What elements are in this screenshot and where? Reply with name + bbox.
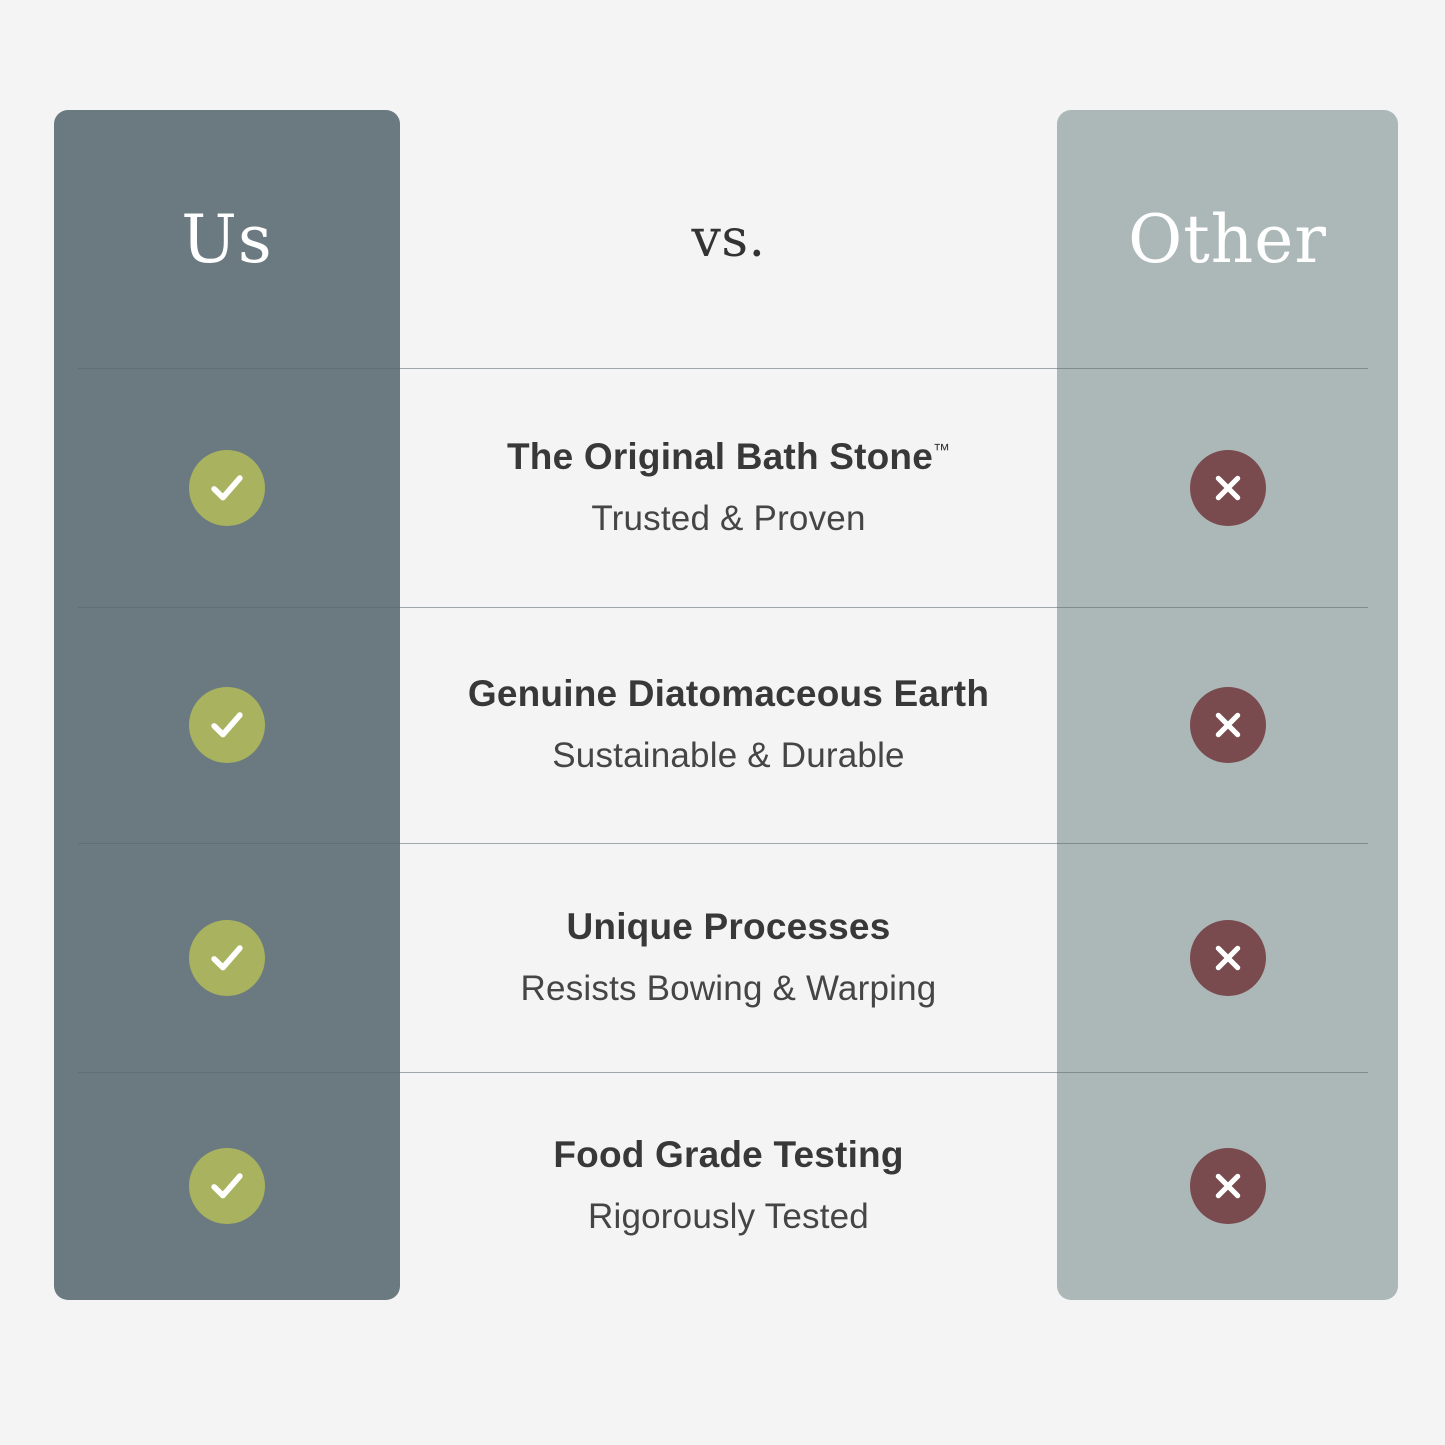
other-cell: [1057, 368, 1398, 607]
feature-cell: The Original Bath Stone™ Trusted & Prove…: [400, 368, 1057, 607]
check-icon: [189, 450, 265, 526]
feature-subtitle: Rigorously Tested: [588, 1198, 869, 1237]
table-row: The Original Bath Stone™ Trusted & Prove…: [0, 368, 1445, 607]
feature-subtitle: Resists Bowing & Warping: [521, 970, 937, 1009]
trademark-icon: ™: [933, 441, 950, 460]
comparison-table: Us vs. Other The Original Bath Stone™ Tr…: [0, 0, 1445, 1445]
column-header-us: Us: [54, 110, 400, 368]
feature-cell: Food Grade Testing Rigorously Tested: [400, 1072, 1057, 1300]
feature-title-text: Genuine Diatomaceous Earth: [468, 673, 989, 714]
column-header-other: Other: [1057, 110, 1398, 368]
us-cell: [54, 607, 400, 843]
table-row: Genuine Diatomaceous Earth Sustainable &…: [0, 607, 1445, 843]
feature-title-text: The Original Bath Stone: [507, 436, 933, 477]
column-header-vs: vs.: [400, 110, 1057, 368]
feature-title-text: Unique Processes: [566, 906, 890, 947]
us-cell: [54, 843, 400, 1072]
other-cell: [1057, 1072, 1398, 1300]
feature-title: Unique Processes: [566, 907, 890, 948]
feature-title: The Original Bath Stone™: [507, 437, 950, 478]
other-cell: [1057, 607, 1398, 843]
cross-icon: [1190, 1148, 1266, 1224]
other-cell: [1057, 843, 1398, 1072]
feature-subtitle: Trusted & Proven: [591, 500, 865, 539]
us-cell: [54, 368, 400, 607]
feature-subtitle: Sustainable & Durable: [552, 737, 904, 776]
feature-cell: Genuine Diatomaceous Earth Sustainable &…: [400, 607, 1057, 843]
table-row: Unique Processes Resists Bowing & Warpin…: [0, 843, 1445, 1072]
us-cell: [54, 1072, 400, 1300]
cross-icon: [1190, 450, 1266, 526]
check-icon: [189, 687, 265, 763]
cross-icon: [1190, 920, 1266, 996]
table-row: Food Grade Testing Rigorously Tested: [0, 1072, 1445, 1300]
check-icon: [189, 1148, 265, 1224]
feature-title: Genuine Diatomaceous Earth: [468, 674, 989, 715]
cross-icon: [1190, 687, 1266, 763]
feature-title: Food Grade Testing: [553, 1135, 903, 1176]
feature-title-text: Food Grade Testing: [553, 1134, 903, 1175]
table-header: Us vs. Other: [0, 110, 1445, 368]
check-icon: [189, 920, 265, 996]
feature-cell: Unique Processes Resists Bowing & Warpin…: [400, 843, 1057, 1072]
